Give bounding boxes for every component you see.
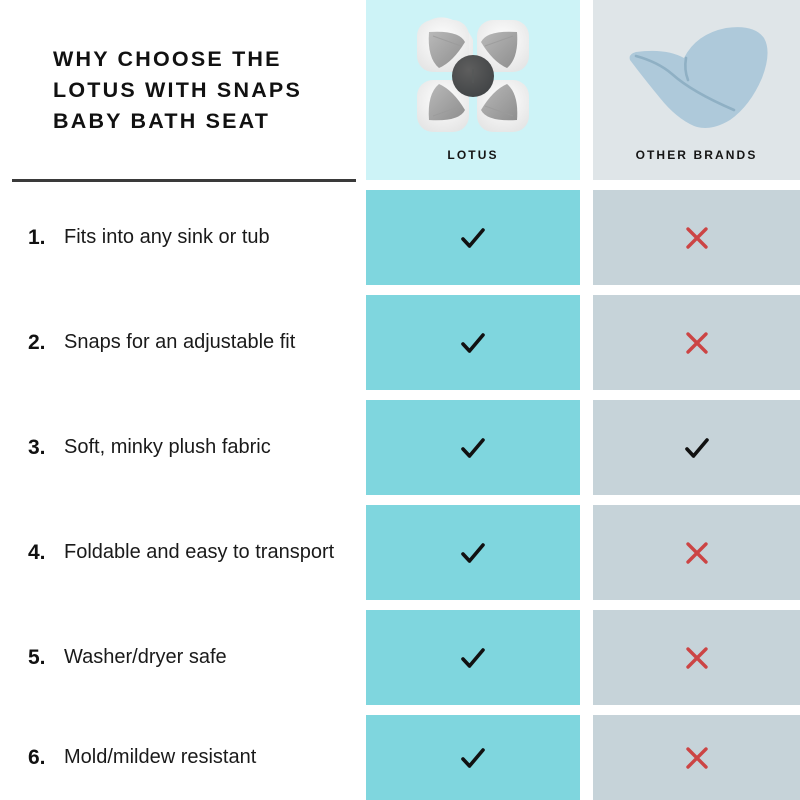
check-icon xyxy=(458,643,488,673)
row-feature-text: Fits into any sink or tub xyxy=(64,224,270,251)
row-number: 5. xyxy=(28,646,64,670)
row-feature-text: Snaps for an adjustable fit xyxy=(64,329,295,356)
row-label: 3. Soft, minky plush fabric xyxy=(28,400,358,495)
cross-icon xyxy=(683,224,711,252)
lotus-product-image xyxy=(366,6,580,146)
other-brands-product-image xyxy=(593,6,800,146)
check-icon xyxy=(458,328,488,358)
check-icon xyxy=(458,538,488,568)
cell-other-brands xyxy=(593,610,800,705)
table-row: 5. Washer/dryer safe xyxy=(0,610,800,705)
row-number: 1. xyxy=(28,226,64,250)
cell-other-brands xyxy=(593,400,800,495)
table-row: 4. Foldable and easy to transport xyxy=(0,505,800,600)
title-divider xyxy=(12,179,356,182)
cross-icon xyxy=(683,329,711,357)
check-icon xyxy=(458,433,488,463)
cell-lotus xyxy=(366,190,580,285)
column-header-label-other-brands: OTHER BRANDS xyxy=(593,148,800,162)
cross-icon xyxy=(683,539,711,567)
cell-other-brands xyxy=(593,190,800,285)
row-label: 5. Washer/dryer safe xyxy=(28,610,358,705)
row-label: 2. Snaps for an adjustable fit xyxy=(28,295,358,390)
table-row: 2. Snaps for an adjustable fit xyxy=(0,295,800,390)
row-feature-text: Foldable and easy to transport xyxy=(64,539,334,566)
cell-lotus xyxy=(366,715,580,800)
row-number: 6. xyxy=(28,746,64,770)
table-row: 1. Fits into any sink or tub xyxy=(0,190,800,285)
cross-icon xyxy=(683,644,711,672)
column-header-label-lotus: LOTUS xyxy=(366,148,580,162)
table-row: 6. Mold/mildew resistant xyxy=(0,715,800,800)
row-label: 1. Fits into any sink or tub xyxy=(28,190,358,285)
row-feature-text: Soft, minky plush fabric xyxy=(64,434,271,461)
cell-other-brands xyxy=(593,295,800,390)
cell-lotus xyxy=(366,295,580,390)
column-header-lotus: LOTUS xyxy=(366,0,580,180)
cell-lotus xyxy=(366,505,580,600)
cell-lotus xyxy=(366,400,580,495)
cell-other-brands xyxy=(593,715,800,800)
column-header-other-brands: OTHER BRANDS xyxy=(593,0,800,180)
comparison-chart: WHY CHOOSE THE LOTUS WITH SNAPS BABY BAT… xyxy=(0,0,800,800)
row-label: 6. Mold/mildew resistant xyxy=(28,715,358,800)
cell-other-brands xyxy=(593,505,800,600)
row-number: 2. xyxy=(28,331,64,355)
page-title: WHY CHOOSE THE LOTUS WITH SNAPS BABY BAT… xyxy=(53,44,353,137)
row-number: 4. xyxy=(28,541,64,565)
check-icon xyxy=(458,743,488,773)
row-number: 3. xyxy=(28,436,64,460)
row-feature-text: Washer/dryer safe xyxy=(64,644,227,671)
cell-lotus xyxy=(366,610,580,705)
row-feature-text: Mold/mildew resistant xyxy=(64,744,256,771)
cross-icon xyxy=(683,744,711,772)
table-row: 3. Soft, minky plush fabric xyxy=(0,400,800,495)
check-icon xyxy=(458,223,488,253)
row-label: 4. Foldable and easy to transport xyxy=(28,505,358,600)
check-icon xyxy=(682,433,712,463)
